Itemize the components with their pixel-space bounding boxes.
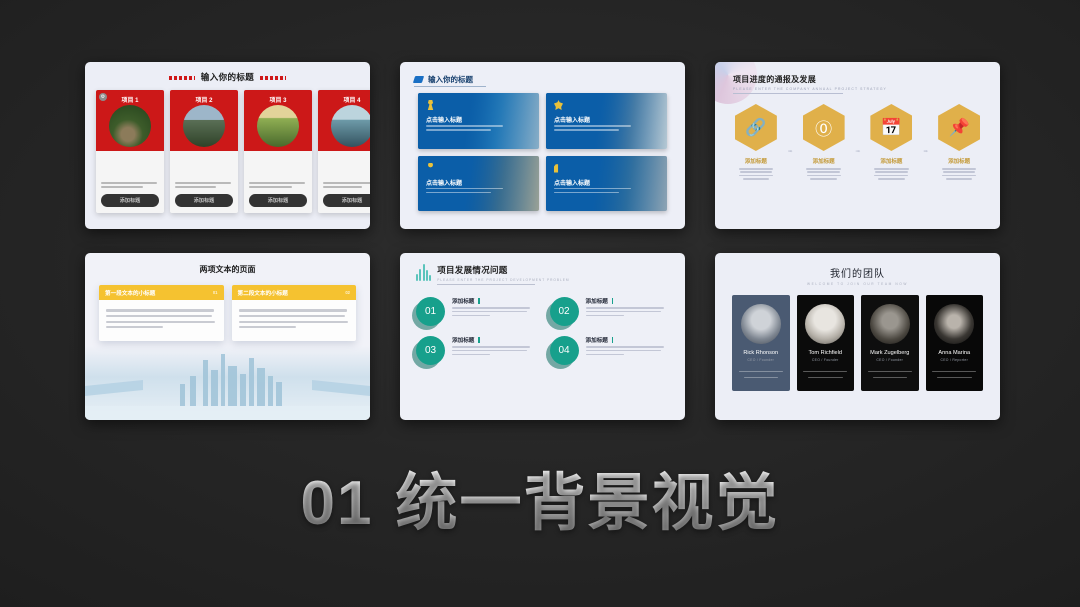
header-underline [414,86,486,87]
slide1-title-row: 输入你的标题 [85,71,370,83]
team-member-name: Rick Rhonson [732,350,790,356]
slide-thumbnail-blue-tiles[interactable]: 输入你的标题 点击输入标题 点击输入标题 [400,62,685,229]
slide2-tile-line [554,125,631,127]
slide2-tile-line [554,192,619,194]
slide2-tile[interactable]: 点击输入标题 [418,156,539,212]
slide1-card-body: 添加标题 [170,151,238,207]
presentation-preview-stage: 输入你的标题 ⚙ 项目 1 添加标题 项目 2 [0,0,1080,607]
skyline-svg [85,346,370,420]
slide3-step[interactable]: ⓪ 添加标题 [797,104,851,182]
slide-thumbnail-two-text[interactable]: 两项文本的页面 第一段文本的小标题 01 第二段文本的小标题 02 [85,253,370,420]
slide2-tile[interactable]: 点击输入标题 [546,93,667,149]
slide1-card-button[interactable]: 添加标题 [101,194,159,207]
slide-thumbnail-red-cards[interactable]: 输入你的标题 ⚙ 项目 1 添加标题 项目 2 [85,62,370,229]
accent-bar [478,337,480,343]
slide5-item[interactable]: 04 添加标题 [550,336,670,365]
slide1-card-body: 添加标题 [244,151,312,207]
slide3-subtitle: PLEASE ENTER THE COMPANY ANNUAL PROJECT … [733,87,887,91]
slide6-subtitle: WELCOME TO JOIN OUR TEAM NOW [715,282,1000,286]
accent-bar [612,298,614,304]
slide-thumbnail-gold-hexagons[interactable]: 项目进度的通报及发展 PLEASE ENTER THE COMPANY ANNU… [715,62,1000,229]
team-member-role: CEO / Reporter [926,358,984,362]
slide1-card-list: ⚙ 项目 1 添加标题 项目 2 [96,90,359,213]
slide3-step-text [932,168,986,180]
slide5-item[interactable]: 03 添加标题 [416,336,536,365]
slide1-card-label: 项目 4 [318,95,370,104]
mountain-photo [183,105,225,147]
slide5-title: 项目发展情况问题 [437,264,569,276]
slide-thumbnail-green-circles[interactable]: 项目发展情况问题 PLEASE ENTER THE PROJECT DEVELO… [400,253,685,420]
slide5-item-title: 添加标题 [452,336,536,344]
slide5-item-grid: 01 添加标题 02 添加标题 [416,297,669,365]
slide5-item-label: 添加标题 [452,336,474,344]
page-title-number: 01 [301,469,374,538]
slide5-item[interactable]: 02 添加标题 [550,297,670,326]
team-member-role: CEO / Founder [861,358,919,362]
slide2-tile-line [554,188,631,190]
accent-bar [478,298,480,304]
slide3-step-row: 🔗 添加标题 ➠ ⓪ 添加标题 ➠ [729,104,986,182]
slide-thumbnail-team[interactable]: 我们的团队 WELCOME TO JOIN OUR TEAM NOW Rick … [715,253,1000,420]
slide2-tile[interactable]: 点击输入标题 [546,156,667,212]
slide4-block-heading: 第一段文本的小标题 [105,289,155,297]
decorative-dash-right [260,76,286,80]
slide5-item-number: 01 [416,297,445,326]
slide1-card-label: 项目 3 [244,95,312,104]
slide4-block-body [232,300,357,341]
slide1-card-label: 项目 1 [96,95,164,104]
slide2-tile-line [426,188,503,190]
slide5-subtitle: PLEASE ENTER THE PROJECT DEVELOPMENT PRO… [437,278,569,282]
slide1-title: 输入你的标题 [201,72,254,82]
slide1-card-button[interactable]: 添加标题 [175,194,233,207]
team-member-name: Mark Zugelberg [861,350,919,356]
slide3-step-text [729,168,783,180]
slide1-card[interactable]: 项目 3 添加标题 [244,90,312,213]
slide2-header: 输入你的标题 [414,74,473,85]
slide4-block-heading: 第二段文本的小标题 [238,289,288,297]
team-member-role: CEO / Founder [797,358,855,362]
coin-dollar-icon: ⓪ [803,104,845,151]
meadow-photo [257,105,299,147]
slide5-item-number: 04 [550,336,579,365]
slide3-step-caption: 添加标题 [932,157,986,165]
city-skyline-bridge-illustration [85,346,370,420]
slide4-block-number: 01 [213,290,218,295]
slide4-title: 两项文本的页面 [85,264,370,275]
forest-path-photo [109,105,151,147]
arrow-right-icon: ➠ [783,148,797,155]
slide2-tile-label: 点击输入标题 [426,115,462,124]
slide2-title: 输入你的标题 [428,74,473,85]
slide2-tile-line [554,129,619,131]
slide2-tile-label: 点击输入标题 [554,178,590,187]
slide6-header: 我们的团队 WELCOME TO JOIN OUR TEAM NOW [715,265,1000,286]
slide6-member-row: Rick Rhonson CEO / Founder Tom Richfield… [732,295,983,391]
slide5-item-title: 添加标题 [586,297,670,305]
slide1-card-body: 添加标题 [318,151,370,207]
calendar-icon: 📅 [870,104,912,151]
slide1-card-button[interactable]: 添加标题 [323,194,370,207]
page-title-text: 统一背景视觉 [395,469,779,538]
slide1-card-button[interactable]: 添加标题 [249,194,307,207]
accent-bar [612,337,614,343]
slide3-step[interactable]: 🔗 添加标题 [729,104,783,182]
slide1-card-body: 添加标题 [96,151,164,207]
slide2-tile-label: 点击输入标题 [554,115,590,124]
team-member-card[interactable]: Tom Richfield CEO / Founder [797,295,855,391]
slide2-tile-grid: 点击输入标题 点击输入标题 点击输入标题 [418,93,667,211]
team-member-card[interactable]: Rick Rhonson CEO / Founder [732,295,790,391]
slide5-item-title: 添加标题 [586,336,670,344]
slide3-step-text [865,168,919,180]
slide1-card-label: 项目 2 [170,95,238,104]
avatar [934,304,974,344]
slide5-item[interactable]: 01 添加标题 [416,297,536,326]
slide1-card-header: 项目 4 [318,90,370,151]
slide4-block-number: 02 [345,290,350,295]
slide1-card-header: 项目 3 [244,90,312,151]
avatar [741,304,781,344]
slide1-card[interactable]: 项目 2 添加标题 [170,90,238,213]
slide5-item-number: 03 [416,336,445,365]
team-member-name: Anna Marina [926,350,984,356]
bar-chart-icon [416,264,431,281]
blue-parallelogram-icon [413,76,424,83]
slide3-step-text [797,168,851,180]
slide2-tile-label: 点击输入标题 [426,178,462,187]
slide4-text-block[interactable]: 第二段文本的小标题 02 [232,285,357,341]
slide5-item-title: 添加标题 [452,297,536,305]
avatar [805,304,845,344]
slide5-header: 项目发展情况问题 PLEASE ENTER THE PROJECT DEVELO… [416,264,570,285]
slide5-item-label: 添加标题 [586,336,608,344]
slide1-card-header: 项目 2 [170,90,238,151]
team-member-card[interactable]: Anna Marina CEO / Reporter [926,295,984,391]
slide-thumbnail-grid: 输入你的标题 ⚙ 项目 1 添加标题 项目 2 [85,62,1000,420]
slide5-item-number: 02 [550,297,579,326]
slide4-block-row: 第一段文本的小标题 01 第二段文本的小标题 02 [99,285,356,341]
arrow-right-icon: ➠ [918,148,932,155]
slide4-block-body [99,300,224,341]
slide4-block-header: 第二段文本的小标题 02 [232,285,357,300]
slide3-step[interactable]: 📌 添加标题 [932,104,986,182]
slide6-title: 我们的团队 [715,265,1000,280]
arrow-right-icon: ➠ [851,148,865,155]
header-underline [437,284,535,285]
header-underline [733,93,843,94]
slide2-tile[interactable]: 点击输入标题 [418,93,539,149]
slide3-step-caption: 添加标题 [797,157,851,165]
slide4-block-header: 第一段文本的小标题 01 [99,285,224,300]
slide2-tile-line [426,125,503,127]
lake-photo [331,105,370,147]
slide4-text-block[interactable]: 第一段文本的小标题 01 [99,285,224,341]
slide3-header: 项目进度的通报及发展 PLEASE ENTER THE COMPANY ANNU… [733,74,887,94]
slide5-item-label: 添加标题 [452,297,474,305]
page-title: 01统一背景视觉 [0,452,1080,542]
slide1-card-header: ⚙ 项目 1 [96,90,164,151]
team-member-card[interactable]: Mark Zugelberg CEO / Founder [861,295,919,391]
decorative-dash-left [169,76,195,80]
avatar [870,304,910,344]
slide5-item-label: 添加标题 [586,297,608,305]
slide3-step-caption: 添加标题 [865,157,919,165]
link-chain-icon: 🔗 [735,104,777,151]
slide1-card[interactable]: 项目 4 添加标题 [318,90,370,213]
slide3-step-caption: 添加标题 [729,157,783,165]
slide1-card[interactable]: ⚙ 项目 1 添加标题 [96,90,164,213]
team-member-name: Tom Richfield [797,350,855,356]
slide2-tile-line [426,192,491,194]
slide3-step[interactable]: 📅 添加标题 [865,104,919,182]
slide3-title: 项目进度的通报及发展 [733,74,887,85]
push-pin-icon: 📌 [938,104,980,151]
team-member-role: CEO / Founder [732,358,790,362]
slide2-tile-line [426,129,491,131]
